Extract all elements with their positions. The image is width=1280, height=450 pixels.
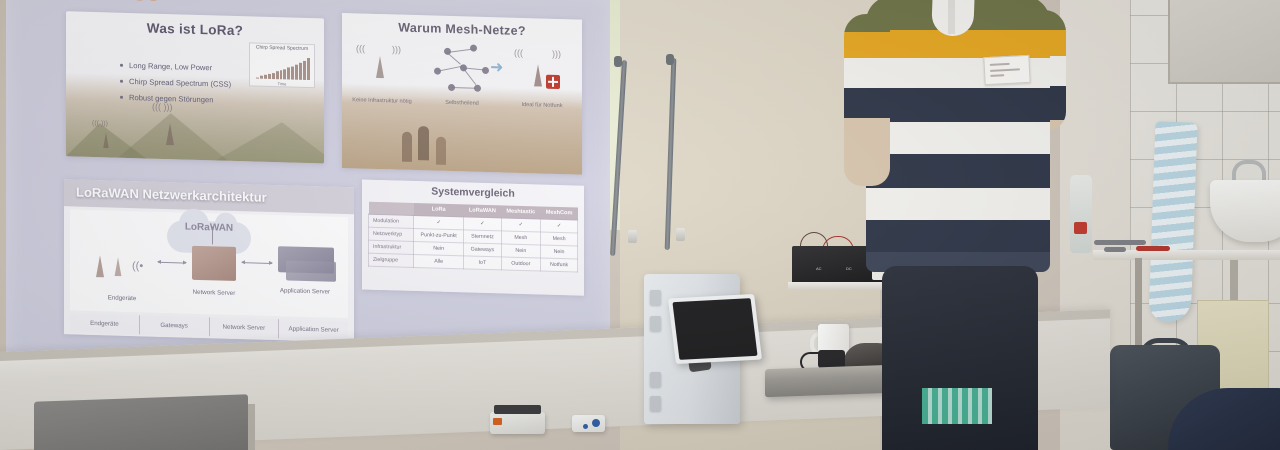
mountain-photo (66, 98, 324, 163)
chart-bar (291, 66, 294, 79)
green-crate (922, 388, 992, 424)
slide-panel-what-is-lora: Was ist LoRa? Long Range, Low Power Chir… (66, 11, 324, 163)
enclosure-hinge (650, 372, 661, 387)
table-row-label: Netzwerktyp (369, 227, 414, 241)
chart-bar (268, 74, 271, 79)
table-column-header: MeshCom (541, 206, 578, 220)
table-cell: Nein (541, 245, 578, 259)
panel-heading-what-is-lora: Was ist LoRa? (66, 11, 324, 40)
radio-tower-icon (166, 123, 174, 145)
architecture-heading-bar: LoRaWAN Netzwerkarchitektur (64, 179, 354, 214)
chirp-chart-bars (256, 55, 310, 81)
signal-wave-icon: ((( ))) (152, 102, 172, 113)
radio-tower-icon (376, 56, 384, 78)
chart-bar (276, 71, 279, 79)
table-cell: IoT (464, 256, 501, 270)
enclosure-hinge (650, 316, 661, 331)
chirp-chart-title: Chirp Spread Spectrum (250, 43, 314, 52)
panel-heading-why-mesh: Warum Mesh-Netze? (342, 13, 582, 40)
list-item: Chirp Spread Spectrum (CSS) (120, 77, 231, 89)
gateway-tower-icon (96, 255, 104, 277)
chart-bar (264, 75, 267, 79)
arrow-bidirectional (242, 262, 272, 264)
presentation-room-photo: LoRa Was ist LoRa? Long Range, Low Power… (0, 0, 1280, 450)
list-item: Long Range, Low Power (120, 61, 231, 73)
deck-title: LoRa (40, 0, 157, 12)
table-column-header: Meshtastic (501, 205, 541, 219)
presenter-striped-polo (866, 0, 1050, 272)
slide-panel-comparison: Systemvergleich LoRaLoRaWANMeshtasticMes… (362, 180, 584, 296)
mesh-cell-no-infrastructure: ((( ))) Keine Infrastruktur nötig (342, 39, 422, 97)
name-badge (983, 55, 1030, 85)
signal-wave-icon: ))) (552, 49, 561, 59)
chart-bar (283, 69, 286, 79)
enclosure-hinge (650, 396, 661, 411)
slide-panel-architecture: LoRaWAN Netzwerkarchitektur LoRaWAN ((• … (64, 179, 354, 342)
antenna-tip (614, 56, 622, 67)
table-cell: Sternnetz (464, 230, 501, 244)
stage-label: Gateways (140, 315, 210, 336)
table-cell: Mesh (541, 232, 578, 246)
comparison-table: LoRaLoRaWANMeshtasticMeshCom Modulation✓… (368, 202, 578, 273)
bottle-cap (1074, 222, 1087, 234)
application-server-icon (286, 260, 336, 281)
table-cell: ✓ (464, 217, 501, 231)
monitor-back-panel (34, 394, 248, 450)
panel-heading-architecture: LoRaWAN Netzwerkarchitektur (64, 179, 354, 207)
chart-bar (260, 76, 263, 79)
architecture-stage-bar: Endgeräte Gateways Network Server Applic… (70, 313, 348, 340)
box-sticker (493, 418, 502, 425)
radio-tower-icon (103, 133, 109, 149)
stage-label: Endgeräte (70, 313, 140, 334)
hand-tools (1090, 238, 1210, 252)
tablet-screen[interactable] (672, 298, 757, 360)
chirp-chart-xlabel: Time (250, 80, 314, 87)
table-cell: Gateways (464, 243, 501, 257)
arrow-bidirectional (158, 262, 186, 264)
mesh-cell-emergency: ((( ))) Ideal für Notfunk (502, 43, 582, 101)
wall-mirror (1168, 0, 1280, 84)
diagram-label: Endgeräte (82, 294, 162, 303)
table-row-label: Modulation (369, 214, 414, 228)
presenter (844, 0, 1074, 450)
antenna-base (676, 228, 685, 241)
architecture-diagram: LoRaWAN ((• Endgeräte Network Server App… (70, 209, 348, 318)
diagram-label: Application Server (264, 287, 346, 296)
arrow-right-icon: ➜ (490, 57, 503, 77)
table-column-header (369, 202, 414, 216)
table-cell: Nein (501, 244, 541, 258)
stage-label: Application Server (279, 319, 348, 340)
chart-bar (256, 77, 259, 79)
tablet-display[interactable] (668, 294, 762, 364)
table-row-label: Zielgruppe (369, 253, 414, 267)
network-server-icon (192, 246, 236, 281)
table-column-header: LoRaWAN (464, 204, 501, 218)
signal-wave-icon: ((( (514, 48, 523, 58)
antenna-tip (666, 54, 674, 65)
slide-panel-why-mesh: Warum Mesh-Netze? ((( ))) Keine Infrastr… (342, 13, 582, 175)
power-adapter (818, 350, 845, 368)
chart-bar (295, 65, 298, 80)
diagram-label: Network Server (174, 288, 254, 297)
panel-heading-comparison: Systemvergleich (362, 180, 584, 202)
signal-wave-icon: ((( ))) (92, 120, 108, 127)
antenna-base (628, 230, 637, 243)
table-cell: ✓ (501, 218, 541, 232)
chirp-chart: Chirp Spread Spectrum Time (249, 42, 315, 88)
chart-bar (272, 73, 275, 79)
chart-bar (307, 58, 310, 80)
signal-wave-icon: ))) (392, 44, 401, 54)
chart-bar (299, 63, 302, 80)
chart-bar (303, 61, 306, 80)
stage-label: Network Server (210, 317, 280, 338)
table-cell: Alle (414, 254, 464, 268)
polo-placket (948, 0, 955, 34)
mesh-icon-row: ((( ))) Keine Infrastruktur nötig (342, 39, 582, 102)
gateway-tower-icon (115, 257, 122, 276)
table-cell: Notfunk (541, 258, 578, 272)
chart-bar (287, 68, 290, 80)
table-cell: Outdoor (501, 257, 541, 271)
hikers-photo (342, 96, 582, 175)
sensor-box-blue (572, 415, 605, 432)
table-row-label: Infrastruktur (369, 240, 414, 254)
enclosure-hinge (650, 290, 661, 305)
chart-bar (280, 70, 283, 79)
signal-wave-icon: ((( (356, 43, 365, 53)
table-cell: Mesh (501, 231, 541, 245)
towel (1149, 121, 1198, 322)
presenter-left-arm (844, 14, 890, 186)
swiss-cross-icon (546, 75, 560, 89)
table-cell: ✓ (541, 219, 578, 233)
wifi-icon: ((• (132, 260, 143, 272)
